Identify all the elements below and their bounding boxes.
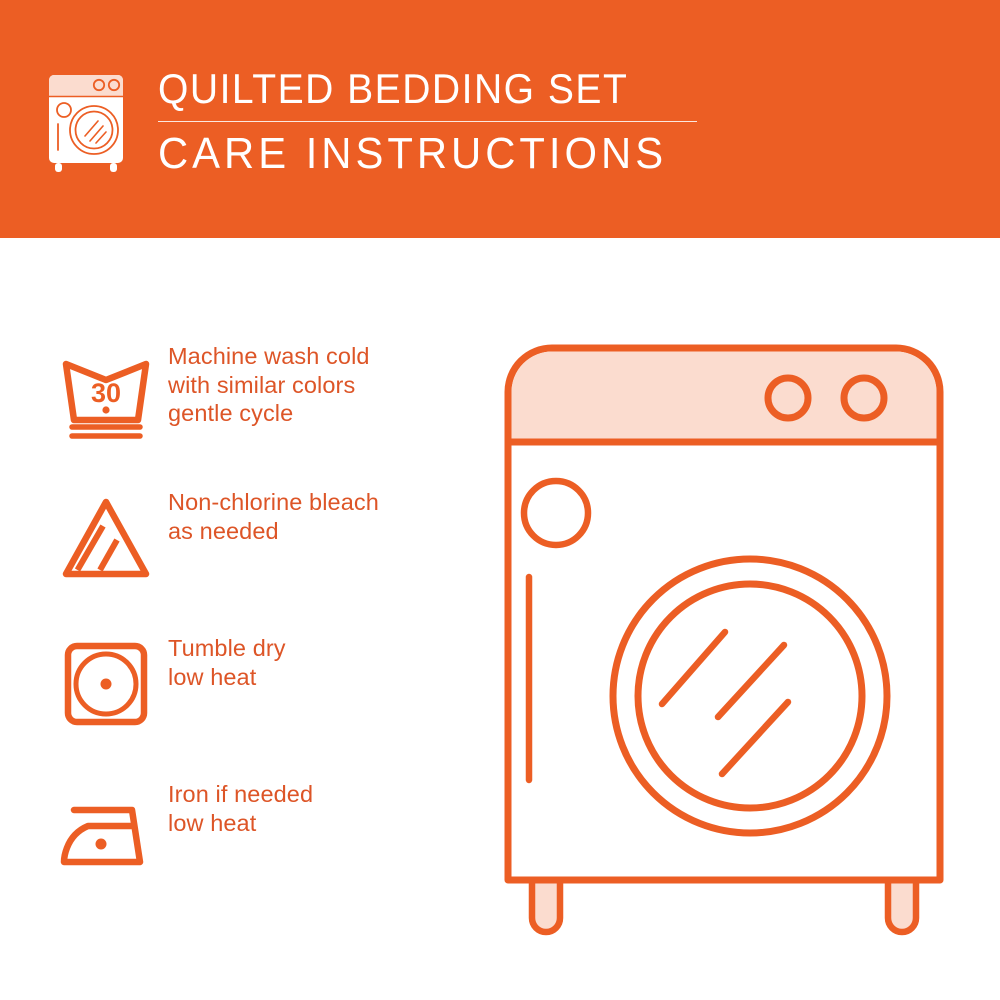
page-title: QUILTED BEDDING SET — [158, 66, 659, 112]
instruction-line: low heat — [168, 663, 286, 692]
leg-left — [532, 878, 560, 932]
machine-wash-30-icon: 30 — [44, 336, 168, 448]
list-item: Tumble dry low heat — [44, 628, 484, 774]
header-content: QUILTED BEDDING SET CARE INSTRUCTIONS — [44, 66, 697, 178]
instruction-line: low heat — [168, 809, 313, 838]
instruction-line: Non-chlorine bleach — [168, 488, 379, 517]
instruction-line: Tumble dry — [168, 634, 286, 663]
non-chlorine-bleach-triangle-icon — [44, 482, 168, 594]
instruction-label: Non-chlorine bleach as needed — [168, 482, 379, 545]
washing-machine-icon — [44, 70, 140, 174]
list-item: Non-chlorine bleach as needed — [44, 482, 484, 628]
title-divider — [158, 121, 697, 122]
instruction-line: Machine wash cold — [168, 342, 370, 371]
page-subtitle: CARE INSTRUCTIONS — [158, 130, 670, 178]
instruction-label: Iron if needed low heat — [168, 774, 313, 837]
header-band: QUILTED BEDDING SET CARE INSTRUCTIONS — [0, 0, 1000, 238]
instruction-label: Machine wash cold with similar colors ge… — [168, 336, 370, 428]
instruction-line: as needed — [168, 517, 379, 546]
list-item: Iron if needed low heat — [44, 774, 484, 920]
leg-right — [888, 878, 916, 932]
care-instructions-list: 30 Machine wash cold with similar colors… — [44, 336, 484, 920]
list-item: 30 Machine wash cold with similar colors… — [44, 336, 484, 482]
tumble-dry-low-icon — [44, 628, 168, 740]
instruction-line: Iron if needed — [168, 780, 313, 809]
instruction-line: gentle cycle — [168, 399, 370, 428]
instruction-label: Tumble dry low heat — [168, 628, 286, 691]
instruction-line: with similar colors — [168, 371, 370, 400]
header-title-group: QUILTED BEDDING SET CARE INSTRUCTIONS — [158, 66, 697, 178]
wash-temperature-label: 30 — [91, 378, 121, 408]
iron-low-heat-icon — [44, 774, 168, 886]
front-load-washing-machine-illustration — [492, 332, 972, 942]
